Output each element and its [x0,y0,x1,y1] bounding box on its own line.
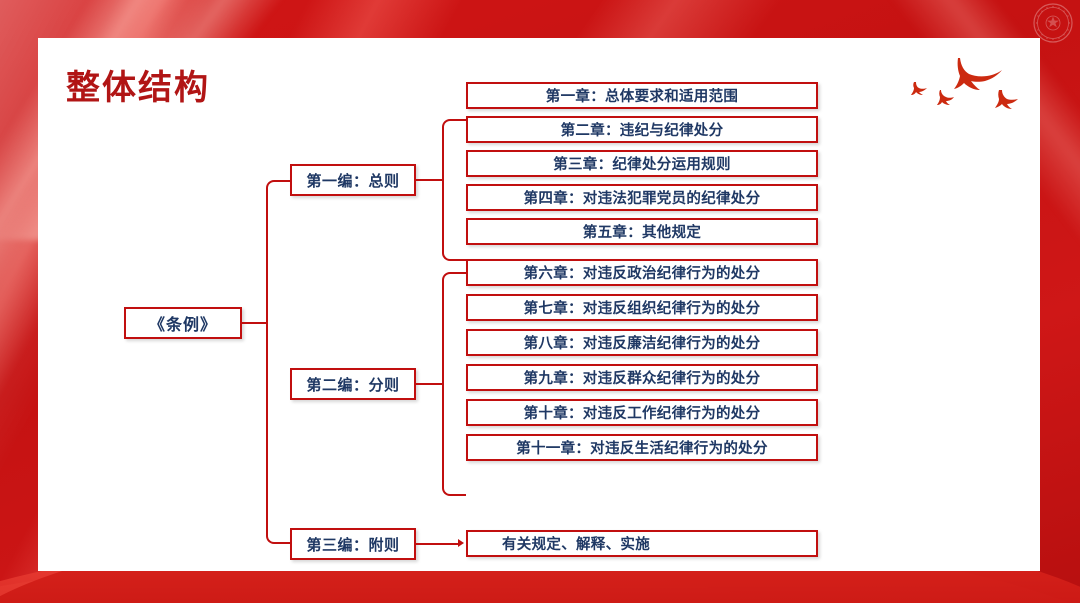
connector-root-stub [242,322,268,324]
diagram-leaf-node[interactable]: 第十一章：对违反生活纪律行为的处分 [466,434,818,461]
connector-root-bracket [266,180,290,544]
page-title: 整体结构 [66,60,210,109]
diagram-leaf-node[interactable]: 第八章：对违反廉洁纪律行为的处分 [466,329,818,356]
diagram-leaf-node[interactable]: 第三章：纪律处分运用规则 [466,150,818,177]
connector-branch3-stub [416,543,460,545]
diagram-leaf-node[interactable]: 第七章：对违反组织纪律行为的处分 [466,294,818,321]
diagram-leaf-node[interactable]: 第十章：对违反工作纪律行为的处分 [466,399,818,426]
diagram-leaf-node[interactable]: 第一章：总体要求和适用范围 [466,82,818,109]
diagram-branch-node-2[interactable]: 第二编：分则 [290,368,416,400]
connector-branch3-arrow-icon [458,539,464,547]
slide-canvas: 整体结构 《条例》 第一编：总则 第 [0,0,1080,603]
diagram-leaf-node[interactable]: 第六章：对违反政治纪律行为的处分 [466,259,818,286]
diagram-leaf-node[interactable]: 第五章：其他规定 [466,218,818,245]
connector-branch2-stub [416,383,444,385]
diagram-leaf-node[interactable]: 第二章：违纪与纪律处分 [466,116,818,143]
connector-branch1-bracket [442,119,466,261]
diagram-branch-node-3[interactable]: 第三编：附则 [290,528,416,560]
diagram-root-node[interactable]: 《条例》 [124,307,242,339]
flying-doves-icon [908,52,1028,114]
diagram-leaf-node[interactable]: 第四章：对违法犯罪党员的纪律处分 [466,184,818,211]
diagram-leaf-node[interactable]: 第九章：对违反群众纪律行为的处分 [466,364,818,391]
connector-branch2-bracket [442,272,466,496]
diagram-branch-node-1[interactable]: 第一编：总则 [290,164,416,196]
diagram-leaf-node[interactable]: 有关规定、解释、实施 [466,530,818,557]
connector-branch1-stub [416,179,444,181]
content-panel: 整体结构 《条例》 第一编：总则 第 [38,38,1040,571]
